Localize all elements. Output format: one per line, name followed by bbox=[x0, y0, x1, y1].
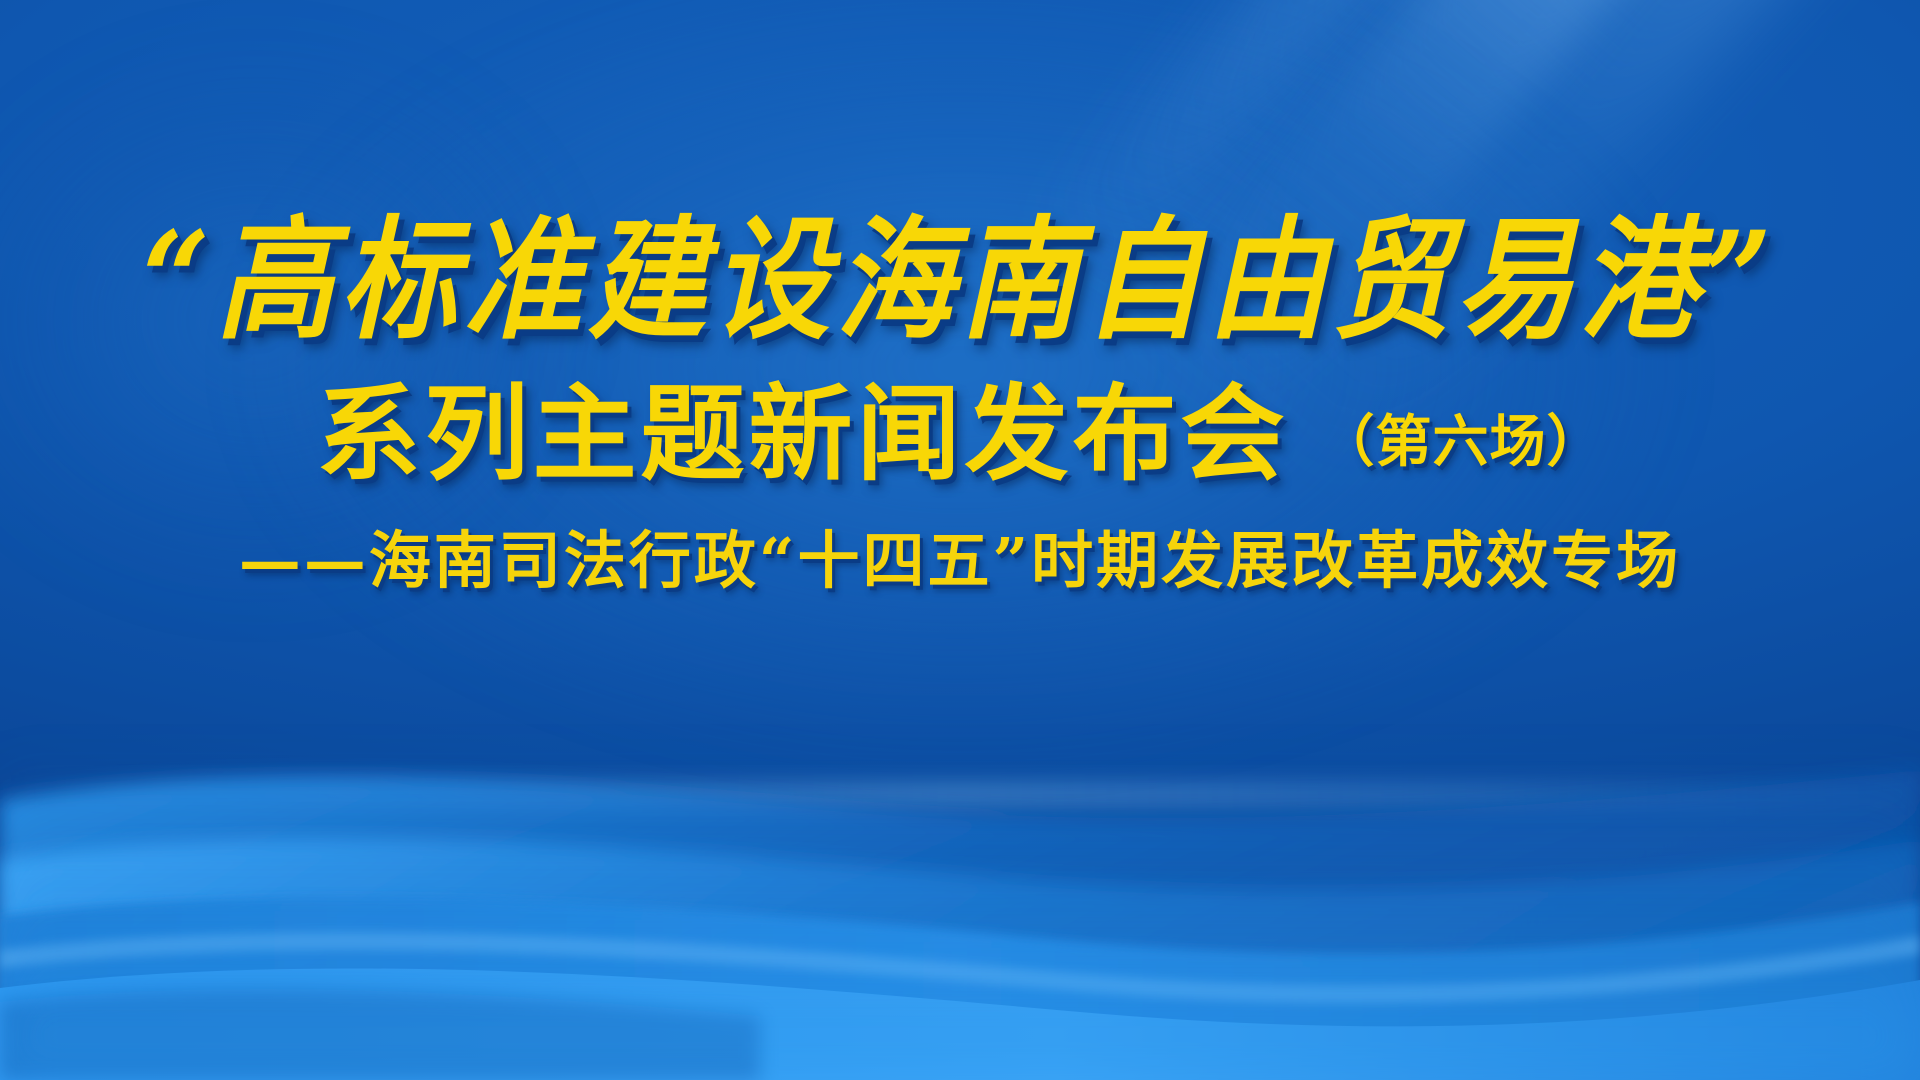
title-block: “高标准建设海南自由贸易港” 系列主题新闻发布会 （第六场） ——海南司法行政“… bbox=[0, 0, 1920, 1080]
backdrop-stage: “高标准建设海南自由贸易港” 系列主题新闻发布会 （第六场） ——海南司法行政“… bbox=[0, 0, 1920, 1080]
subheadline-title: ——海南司法行政“十四五”时期发展改革成效专场 bbox=[239, 530, 1681, 592]
subject-title: 系列主题新闻发布会 bbox=[316, 382, 1288, 486]
headline-title: “高标准建设海南自由贸易港” bbox=[142, 214, 1778, 346]
subject-row: 系列主题新闻发布会 （第六场） bbox=[316, 382, 1603, 486]
session-number-label: （第六场） bbox=[1319, 397, 1604, 486]
